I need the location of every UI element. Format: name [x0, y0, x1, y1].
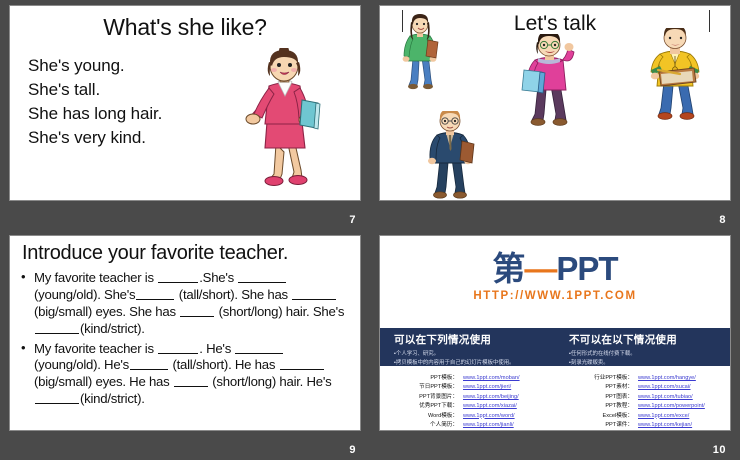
resource-links: PPT模板：www.1ppt.com/moban/节日PPT模板：www.1pp…: [380, 370, 730, 430]
brand-logo-cn: 第: [492, 250, 524, 287]
resource-link-row: PPT素材：www.1ppt.com/sucai/: [591, 383, 730, 392]
female-teacher-illustration: [236, 48, 332, 193]
resource-link-url[interactable]: www.1ppt.com/exce/: [638, 412, 689, 421]
resource-link-row: PPT背景图片：www.1ppt.com/beijing/: [416, 393, 555, 402]
resource-link-url[interactable]: www.1ppt.com/sucai/: [638, 383, 691, 392]
resource-link-label: 优秀PPT下载：: [416, 402, 463, 411]
resource-link-label: 手抄报：: [416, 430, 463, 431]
slide-8[interactable]: Let's talk: [379, 5, 731, 201]
terms-allowed-heading: 可以在下列情况使用: [394, 332, 555, 347]
resource-link-url[interactable]: www.1ppt.com/xiazai/: [463, 402, 517, 411]
slide-10[interactable]: 第—PPT HTTP://WWW.1PPT.COM 可以在下列情况使用 个人学习…: [379, 235, 731, 431]
brand-logo: 第—PPT: [492, 252, 617, 285]
resource-link-label: PPT图表：: [591, 393, 638, 402]
terms-allowed-item-2: 拷贝模板中的内容用于自己的幻灯片模板中使用。: [394, 359, 555, 367]
slide-9[interactable]: Introduce your favorite teacher. My favo…: [9, 235, 361, 431]
slide-7[interactable]: What's she like? She's young. She's tall…: [9, 5, 361, 201]
slide-9-title: Introduce your favorite teacher.: [22, 242, 288, 265]
man-yellow-polo-figure: [646, 28, 704, 124]
brand-logo-block: 第—PPT HTTP://WWW.1PPT.COM: [380, 252, 730, 318]
slide-number-9: 9: [349, 445, 356, 456]
slide-7-line-1: She's young.: [28, 54, 248, 78]
resource-link-label: PPT背景图片：: [416, 393, 463, 402]
resource-link-url[interactable]: www.1ppt.com/kejian/: [638, 421, 692, 430]
brand-logo-ppt: PPT: [556, 250, 617, 287]
resource-link-row: 个人简历：www.1ppt.com/jianli/: [416, 421, 555, 430]
resource-link-label: 试卷下载：: [591, 430, 638, 431]
resource-link-label: PPT素材：: [591, 383, 638, 392]
resource-link-row: PPT图表：www.1ppt.com/tubiao/: [591, 393, 730, 402]
terms-band: 可以在下列情况使用 个人学习、研究。 拷贝模板中的内容用于自己的幻灯片模板中使用…: [380, 328, 730, 366]
resource-link-label: 节日PPT模板：: [416, 383, 463, 392]
list-item: My favorite teacher is . He's (young/old…: [18, 341, 354, 409]
slide-7-line-4: She's very kind.: [28, 126, 248, 150]
slide-cell-7[interactable]: What's she like? She's young. She's tall…: [0, 0, 370, 230]
resource-link-label: Excel模板：: [591, 412, 638, 421]
boy-pink-shirt-figure: [520, 34, 578, 130]
resource-link-url[interactable]: www.1ppt.com/powerpoint/: [638, 402, 705, 411]
resource-link-row: 节日PPT模板：www.1ppt.com/jieri/: [416, 383, 555, 392]
resource-link-row: 行业PPT模板：www.1ppt.com/hangye/: [591, 374, 730, 383]
resource-link-url[interactable]: www.1ppt.com/shiti/: [638, 430, 687, 431]
slide-7-text-block: She's young. She's tall. She has long ha…: [28, 54, 248, 151]
slide-number-10: 10: [713, 445, 726, 456]
woman-green-sweater-figure: [398, 14, 442, 92]
slide-7-line-2: She's tall.: [28, 78, 248, 102]
terms-forbidden-column: 不可以在以下情况使用 任何形式的在线付费下载。 刻录光碟贩卖。: [555, 328, 730, 366]
resource-link-url[interactable]: www.1ppt.com/moban/: [463, 374, 520, 383]
list-item: My favorite teacher is .She's (young/old…: [18, 270, 354, 338]
resource-link-row: 手抄报：www.1ppt.com/shouchaobao/: [416, 430, 555, 431]
resource-link-label: 个人简历：: [416, 421, 463, 430]
terms-forbidden-item-1: 任何形式的在线付费下载。: [569, 350, 730, 358]
resource-links-column-left: PPT模板：www.1ppt.com/moban/节日PPT模板：www.1pp…: [380, 374, 555, 430]
resource-link-row: PPT课件：www.1ppt.com/kejian/: [591, 421, 730, 430]
slide-7-line-3: She has long hair.: [28, 102, 248, 126]
resource-link-label: PPT教程：: [591, 402, 638, 411]
resource-link-row: 试卷下载：www.1ppt.com/shiti/: [591, 430, 730, 431]
man-navy-suit-figure: [424, 111, 476, 201]
resource-link-url[interactable]: www.1ppt.com/beijing/: [463, 393, 519, 402]
resource-link-url[interactable]: www.1ppt.com/jianli/: [463, 421, 514, 430]
resource-link-row: 优秀PPT下载：www.1ppt.com/xiazai/: [416, 402, 555, 411]
brand-url: HTTP://WWW.1PPT.COM: [380, 290, 730, 302]
terms-allowed-item-1: 个人学习、研究。: [394, 350, 555, 358]
terms-forbidden-heading: 不可以在以下情况使用: [569, 332, 730, 347]
terms-forbidden-item-2: 刻录光碟贩卖。: [569, 359, 730, 367]
resource-link-url[interactable]: www.1ppt.com/word/: [463, 412, 515, 421]
slide-7-title: What's she like?: [10, 14, 360, 41]
resource-link-row: PPT教程：www.1ppt.com/powerpoint/: [591, 402, 730, 411]
slide-cell-10[interactable]: 第—PPT HTTP://WWW.1PPT.COM 可以在下列情况使用 个人学习…: [370, 230, 740, 460]
resource-link-label: PPT模板：: [416, 374, 463, 383]
resource-links-column-right: 行业PPT模板：www.1ppt.com/hangye/PPT素材：www.1p…: [555, 374, 730, 430]
resource-link-label: Word模板：: [416, 412, 463, 421]
slide-cell-8[interactable]: Let's talk: [370, 0, 740, 230]
slide-number-7: 7: [349, 215, 356, 226]
terms-allowed-column: 可以在下列情况使用 个人学习、研究。 拷贝模板中的内容用于自己的幻灯片模板中使用…: [380, 328, 555, 366]
slide-number-8: 8: [719, 215, 726, 226]
resource-link-row: PPT模板：www.1ppt.com/moban/: [416, 374, 555, 383]
resource-link-label: PPT课件：: [591, 421, 638, 430]
resource-link-url[interactable]: www.1ppt.com/hangye/: [638, 374, 696, 383]
resource-link-url[interactable]: www.1ppt.com/jieri/: [463, 383, 511, 392]
slide-thumbnail-grid: What's she like? She's young. She's tall…: [0, 0, 740, 460]
slide-9-bullet-list: My favorite teacher is .She's (young/old…: [18, 270, 354, 411]
resource-link-url[interactable]: www.1ppt.com/tubiao/: [638, 393, 693, 402]
brand-logo-dash: —: [524, 250, 556, 287]
resource-link-url[interactable]: www.1ppt.com/shouchaobao/: [463, 430, 536, 431]
slide-cell-9[interactable]: Introduce your favorite teacher. My favo…: [0, 230, 370, 460]
resource-link-row: Word模板：www.1ppt.com/word/: [416, 412, 555, 421]
resource-link-row: Excel模板：www.1ppt.com/exce/: [591, 412, 730, 421]
resource-link-label: 行业PPT模板：: [591, 374, 638, 383]
